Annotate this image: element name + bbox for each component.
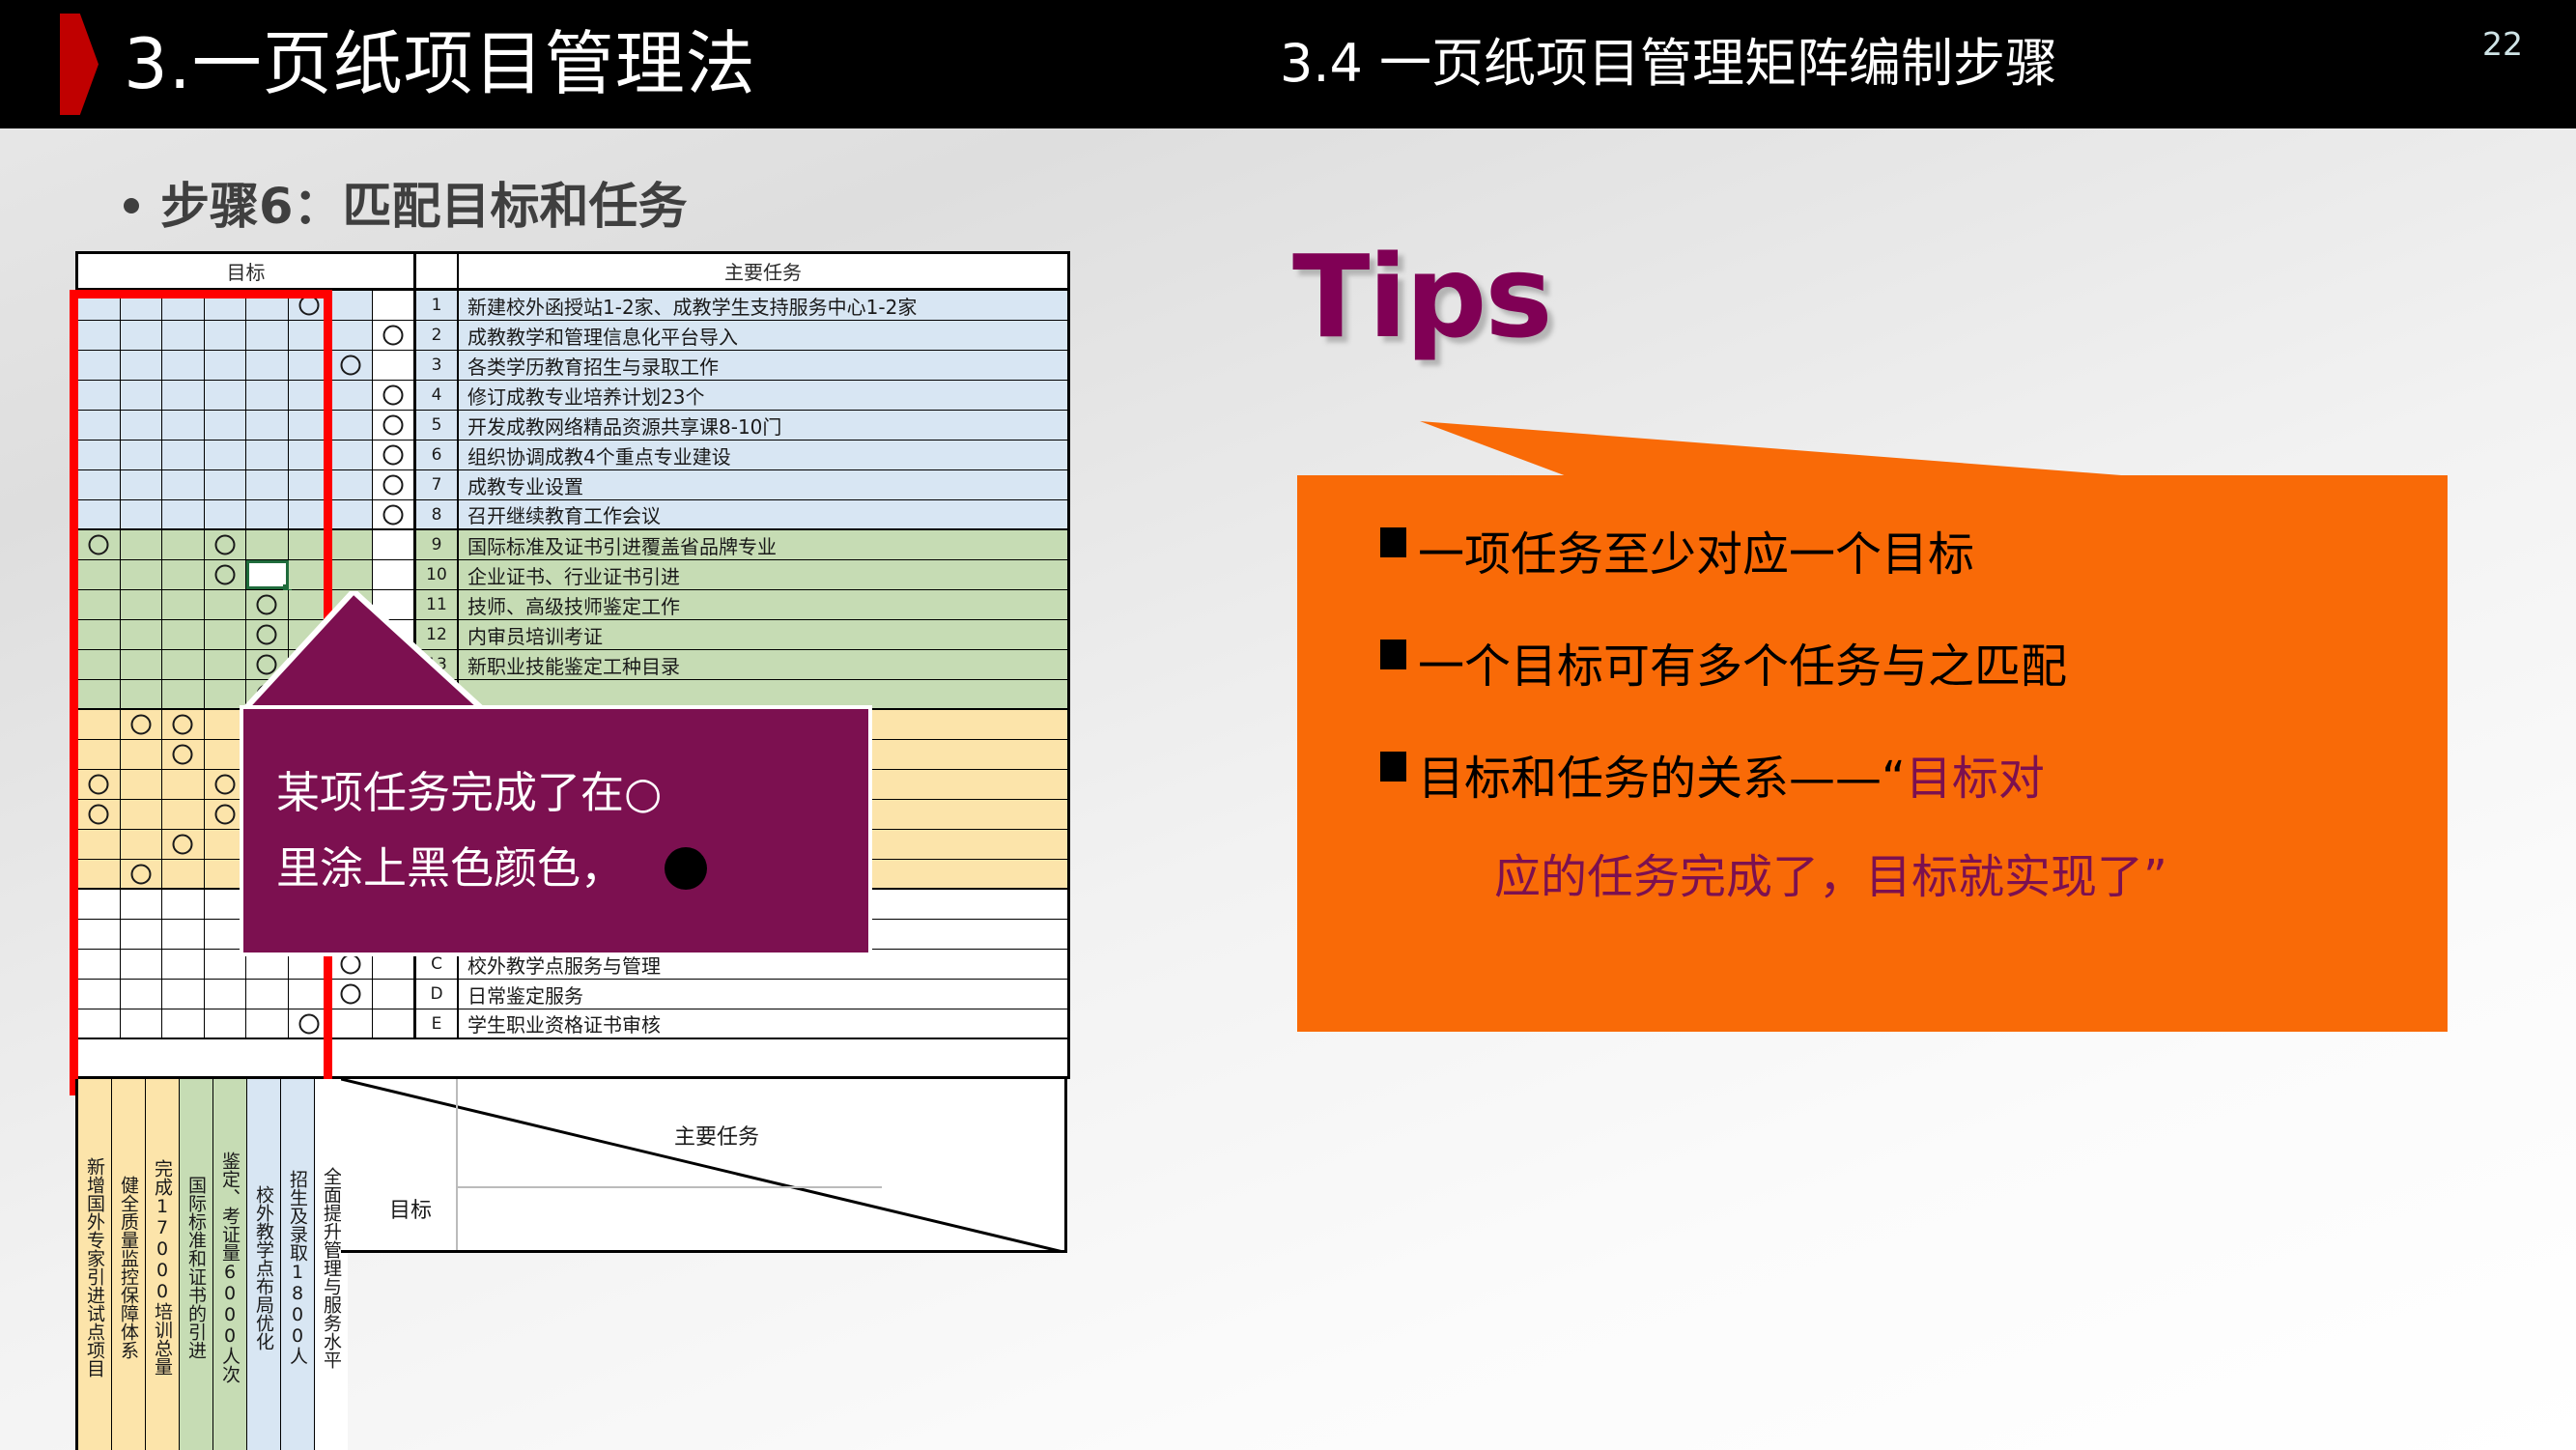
task-name-cell[interactable]: 各类学历教育招生与录取工作 xyxy=(459,351,1067,380)
matrix-cell[interactable] xyxy=(78,441,121,469)
matrix-cell[interactable] xyxy=(121,351,163,380)
row-number-cell: 4 xyxy=(416,381,459,410)
matrix-cell[interactable] xyxy=(289,680,331,708)
step-heading-label: 步骤6：匹配目标和任务 xyxy=(160,179,688,236)
matrix-cell[interactable] xyxy=(373,590,414,619)
table-row[interactable]: 10企业证书、行业证书引进 xyxy=(78,560,1067,590)
empty-circle-icon xyxy=(341,954,361,975)
matrix-cell[interactable] xyxy=(78,920,121,949)
matrix-cell[interactable] xyxy=(373,411,414,440)
row-number-cell: 14 xyxy=(416,680,459,708)
row-number-cell: 13 xyxy=(416,650,459,679)
matrix-cell[interactable] xyxy=(330,590,373,619)
matrix-cell[interactable] xyxy=(205,321,247,350)
matrix-cell[interactable] xyxy=(205,470,247,499)
matrix-cell[interactable] xyxy=(121,411,163,440)
matrix-cell[interactable] xyxy=(78,650,121,679)
table-row[interactable]: E学生职业资格证书审核 xyxy=(78,1009,1067,1039)
matrix-cell[interactable] xyxy=(162,950,205,979)
goal-cells xyxy=(78,441,416,469)
empty-circle-icon xyxy=(257,625,277,645)
matrix-cell[interactable] xyxy=(373,381,414,410)
matrix-cell[interactable] xyxy=(78,470,121,499)
matrix-cell[interactable] xyxy=(246,650,289,679)
matrix-cell[interactable] xyxy=(205,620,247,649)
table-row[interactable]: 11技师、高级技师鉴定工作 xyxy=(78,590,1067,620)
table-row[interactable]: 3各类学历教育招生与录取工作 xyxy=(78,351,1067,381)
row-number-cell: 9 xyxy=(416,530,459,559)
matrix-cell[interactable] xyxy=(162,470,205,499)
goal-cells xyxy=(78,680,416,708)
matrix-cell[interactable] xyxy=(78,1009,121,1038)
matrix-cell[interactable] xyxy=(246,980,289,1009)
matrix-cell[interactable] xyxy=(162,860,205,888)
matrix-cell[interactable] xyxy=(162,381,205,410)
matrix-cell[interactable] xyxy=(289,411,331,440)
matrix-cell[interactable] xyxy=(78,860,121,888)
empty-circle-icon xyxy=(382,415,403,436)
matrix-cell[interactable] xyxy=(162,680,205,708)
matrix-cell[interactable] xyxy=(205,1009,247,1038)
row-number-cell: 2 xyxy=(416,321,459,350)
selected-cell[interactable] xyxy=(246,560,289,589)
matrix-cell[interactable] xyxy=(78,560,121,589)
goal-cells xyxy=(78,620,416,649)
matrix-cell[interactable] xyxy=(78,500,121,528)
matrix-cell[interactable] xyxy=(373,680,414,708)
goal-cells xyxy=(78,411,416,440)
empty-circle-icon xyxy=(382,475,403,496)
empty-circle-icon xyxy=(214,805,235,825)
goal-column-label-5: 鉴定、考证量6000人次 xyxy=(213,1079,247,1450)
matrix-cell[interactable] xyxy=(121,530,163,559)
matrix-cell[interactable] xyxy=(205,560,247,589)
legend-task-label: 主要任务 xyxy=(674,1120,759,1151)
matrix-cell[interactable] xyxy=(330,441,373,469)
goal-cells xyxy=(78,500,416,528)
task-name-cell[interactable] xyxy=(459,680,1067,708)
callout-line-2: 里涂上黑色颜色， xyxy=(276,831,835,906)
task-name-cell[interactable]: 成教教学和管理信息化平台导入 xyxy=(459,321,1067,350)
empty-circle-icon xyxy=(382,326,403,346)
tips-bullet-3-highlight: 目标对 xyxy=(1906,740,2045,808)
matrix-cell[interactable] xyxy=(246,411,289,440)
empty-circle-icon xyxy=(89,775,109,795)
goal-cells xyxy=(78,470,416,499)
goal-cells xyxy=(78,1009,416,1038)
square-bullet-icon xyxy=(1380,527,1406,557)
goal-cells xyxy=(78,381,416,410)
task-column-header: 主要任务 xyxy=(459,254,1067,288)
matrix-cell[interactable] xyxy=(289,500,331,528)
empty-circle-icon xyxy=(173,715,193,735)
matrix-cell[interactable] xyxy=(330,500,373,528)
matrix-cell[interactable] xyxy=(121,680,163,708)
empty-circle-icon xyxy=(382,445,403,466)
table-row[interactable]: 12内审员培训考证 xyxy=(78,620,1067,650)
matrix-cell[interactable] xyxy=(289,650,331,679)
matrix-cell[interactable] xyxy=(121,770,163,799)
goal-column-group-header: 目标 xyxy=(78,254,416,288)
matrix-cell[interactable] xyxy=(246,530,289,559)
empty-circle-icon xyxy=(257,595,277,615)
tips-box-pointer-icon xyxy=(1420,404,2173,481)
matrix-cell[interactable] xyxy=(289,1009,331,1038)
goal-column-label-4: 国际标准和证书的引进 xyxy=(180,1079,213,1450)
matrix-cell[interactable] xyxy=(373,351,414,380)
empty-circle-icon xyxy=(341,984,361,1005)
empty-circle-icon xyxy=(214,565,235,585)
matrix-cell[interactable] xyxy=(121,1009,163,1038)
matrix-cell[interactable] xyxy=(373,291,414,320)
matrix-cell[interactable] xyxy=(205,411,247,440)
matrix-cell[interactable] xyxy=(162,1009,205,1038)
matrix-cell[interactable] xyxy=(162,770,205,799)
matrix-cell[interactable] xyxy=(205,530,247,559)
page-title: 3.一页纸项目管理法 xyxy=(124,6,756,122)
goal-cells xyxy=(78,530,416,559)
goal-column-label-7: 招生及录取1800人 xyxy=(281,1079,315,1450)
matrix-cell[interactable] xyxy=(162,830,205,859)
goal-cells xyxy=(78,351,416,380)
matrix-cell[interactable] xyxy=(330,680,373,708)
empty-circle-icon xyxy=(173,835,193,855)
matrix-cell[interactable] xyxy=(330,560,373,589)
empty-circle-icon xyxy=(298,296,319,316)
empty-circle-icon xyxy=(173,745,193,765)
matrix-cell[interactable] xyxy=(162,740,205,769)
matrix-cell[interactable] xyxy=(289,291,331,320)
matrix-cell[interactable] xyxy=(121,830,163,859)
tips-bullet-3-line2: 应的任务完成了，目标就实现了” xyxy=(1494,839,2167,906)
matrix-cell[interactable] xyxy=(78,411,121,440)
matrix-legend-area: 新增国外专家引进试点项目健全质量监控保障体系完成17000培训总量国际标准和证书… xyxy=(75,1079,1070,1253)
matrix-cell[interactable] xyxy=(205,650,247,679)
matrix-cell[interactable] xyxy=(246,291,289,320)
task-name-cell[interactable]: 开发成教网络精品资源共享课8-10门 xyxy=(459,411,1067,440)
matrix-cell[interactable] xyxy=(121,920,163,949)
row-number-cell: E xyxy=(416,1009,459,1038)
goal-column-label-1: 新增国外专家引进试点项目 xyxy=(78,1079,112,1450)
matrix-cell[interactable] xyxy=(121,590,163,619)
matrix-cell[interactable] xyxy=(373,500,414,528)
empty-circle-icon xyxy=(130,864,151,884)
matrix-cell[interactable] xyxy=(205,381,247,410)
legend-diagonal-divider-icon xyxy=(341,1079,1067,1253)
goal-column-label-2: 健全质量监控保障体系 xyxy=(112,1079,146,1450)
callout-line-2-text: 里涂上黑色颜色， xyxy=(276,831,624,906)
matrix-cell[interactable] xyxy=(78,770,121,799)
tips-bullet-1: 一项任务至少对应一个目标 xyxy=(1380,516,1974,583)
page-number: 22 xyxy=(2482,25,2523,64)
legend-goal-label: 目标 xyxy=(389,1193,432,1224)
matrix-cell[interactable] xyxy=(78,950,121,979)
matrix-cell[interactable] xyxy=(246,381,289,410)
instruction-callout: 某项任务完成了在○ 里涂上黑色颜色， xyxy=(240,705,872,956)
matrix-cell[interactable] xyxy=(330,1009,373,1038)
matrix-cell[interactable] xyxy=(246,590,289,619)
matrix-cell[interactable] xyxy=(162,620,205,649)
matrix-cell[interactable] xyxy=(162,650,205,679)
matrix-cell[interactable] xyxy=(121,620,163,649)
matrix-cell[interactable] xyxy=(78,321,121,350)
tips-bullet-1-label: 一项任务至少对应一个目标 xyxy=(1418,516,1974,583)
matrix-cell[interactable] xyxy=(330,291,373,320)
matrix-cell[interactable] xyxy=(162,351,205,380)
matrix-cell[interactable] xyxy=(121,950,163,979)
matrix-cell[interactable] xyxy=(121,890,163,919)
matrix-cell[interactable] xyxy=(121,291,163,320)
row-number-cell: 7 xyxy=(416,470,459,499)
table-row[interactable]: 1新建校外函授站1-2家、成教学生支持服务中心1-2家 xyxy=(78,291,1067,321)
table-row[interactable]: 5开发成教网络精品资源共享课8-10门 xyxy=(78,411,1067,441)
goal-cells xyxy=(78,650,416,679)
matrix-cell[interactable] xyxy=(121,441,163,469)
legend-corner-cell: 主要任务 目标 xyxy=(341,1079,1067,1253)
row-number-cell: 5 xyxy=(416,411,459,440)
matrix-cell[interactable] xyxy=(121,381,163,410)
table-row[interactable]: 6组织协调成教4个重点专业建设 xyxy=(78,441,1067,470)
matrix-cell[interactable] xyxy=(289,351,331,380)
matrix-cell[interactable] xyxy=(162,710,205,739)
task-name-cell[interactable]: 修订成教专业培养计划23个 xyxy=(459,381,1067,410)
matrix-cell[interactable] xyxy=(289,441,331,469)
tips-bullet-3-prefix: 目标和任务的关系——“ xyxy=(1418,740,1906,808)
matrix-cell[interactable] xyxy=(121,650,163,679)
empty-circle-icon xyxy=(89,805,109,825)
table-row[interactable]: 9国际标准及证书引进覆盖省品牌专业 xyxy=(78,530,1067,560)
matrix-cell[interactable] xyxy=(78,530,121,559)
matrix-cell[interactable] xyxy=(162,890,205,919)
goal-cells xyxy=(78,590,416,619)
row-number-cell: 6 xyxy=(416,441,459,469)
empty-circle-icon xyxy=(257,655,277,675)
matrix-cell[interactable] xyxy=(121,740,163,769)
goal-cells xyxy=(78,291,416,320)
matrix-cell[interactable] xyxy=(289,470,331,499)
row-number-cell: 11 xyxy=(416,590,459,619)
square-bullet-icon xyxy=(1380,752,1406,782)
empty-circle-icon xyxy=(130,715,151,735)
matrix-cell[interactable] xyxy=(121,321,163,350)
matrix-cell[interactable] xyxy=(162,530,205,559)
row-number-cell: 12 xyxy=(416,620,459,649)
matrix-cell[interactable] xyxy=(162,500,205,528)
section-subtitle: 3.4 一页纸项目管理矩阵编制步骤 xyxy=(1280,14,2057,113)
empty-circle-icon xyxy=(382,385,403,406)
matrix-cell[interactable] xyxy=(246,441,289,469)
slide-header-bar: 3.一页纸项目管理法 3.4 一页纸项目管理矩阵编制步骤 22 xyxy=(0,0,2576,128)
task-name-cell[interactable]: 企业证书、行业证书引进 xyxy=(459,560,1067,589)
goal-cells xyxy=(78,980,416,1009)
matrix-cell[interactable] xyxy=(78,740,121,769)
matrix-cell[interactable] xyxy=(205,500,247,528)
matrix-cell[interactable] xyxy=(246,500,289,528)
matrix-cell[interactable] xyxy=(246,620,289,649)
callout-line-1: 某项任务完成了在○ xyxy=(276,755,835,831)
matrix-cell[interactable] xyxy=(162,411,205,440)
matrix-cell[interactable] xyxy=(205,980,247,1009)
matrix-cell[interactable] xyxy=(78,620,121,649)
tips-bullet-2: 一个目标可有多个任务与之匹配 xyxy=(1380,628,2067,696)
row-number-cell: 1 xyxy=(416,291,459,320)
header-arrow-marker-icon xyxy=(60,14,99,115)
matrix-cell[interactable] xyxy=(330,530,373,559)
matrix-cell[interactable] xyxy=(162,800,205,829)
tips-box: 一项任务至少对应一个目标 一个目标可有多个任务与之匹配 目标和任务的关系——“目… xyxy=(1297,475,2448,1032)
matrix-cell[interactable] xyxy=(205,291,247,320)
empty-circle-icon xyxy=(214,775,235,795)
matrix-cell[interactable] xyxy=(162,291,205,320)
matrix-cell[interactable] xyxy=(289,620,331,649)
matrix-cell[interactable] xyxy=(78,830,121,859)
matrix-cell[interactable] xyxy=(246,680,289,708)
task-name-cell[interactable]: 新建校外函授站1-2家、成教学生支持服务中心1-2家 xyxy=(459,291,1067,320)
row-number-header xyxy=(416,254,459,288)
matrix-cell[interactable] xyxy=(289,530,331,559)
task-name-cell[interactable]: 召开继续教育工作会议 xyxy=(459,500,1067,528)
table-row[interactable]: 8召开继续教育工作会议 xyxy=(78,500,1067,530)
task-name-cell[interactable]: 学生职业资格证书审核 xyxy=(459,1009,1067,1038)
goal-column-label-6: 校外教学点布局优化 xyxy=(247,1079,281,1450)
matrix-cell[interactable] xyxy=(330,650,373,679)
row-number-cell: 10 xyxy=(416,560,459,589)
matrix-cell[interactable] xyxy=(246,1009,289,1038)
square-bullet-icon xyxy=(1380,640,1406,669)
step-heading: 步骤6：匹配目标和任务 xyxy=(124,166,688,238)
matrix-cell[interactable] xyxy=(78,890,121,919)
matrix-cell[interactable] xyxy=(78,351,121,380)
matrix-cell[interactable] xyxy=(162,321,205,350)
matrix-cell[interactable] xyxy=(373,560,414,589)
matrix-cell[interactable] xyxy=(330,411,373,440)
task-name-cell[interactable]: 国际标准及证书引进覆盖省品牌专业 xyxy=(459,530,1067,559)
slide-canvas: 3.一页纸项目管理法 3.4 一页纸项目管理矩阵编制步骤 22 步骤6：匹配目标… xyxy=(0,0,2576,1450)
matrix-cell[interactable] xyxy=(373,321,414,350)
matrix-cell[interactable] xyxy=(373,530,414,559)
tips-bullet-3: 目标和任务的关系——“目标对 xyxy=(1380,740,2045,808)
matrix-cell[interactable] xyxy=(121,980,163,1009)
table-row[interactable]: 7成教专业设置 xyxy=(78,470,1067,500)
matrix-cell[interactable] xyxy=(289,321,331,350)
bullet-dot-icon xyxy=(124,198,139,213)
matrix-cell[interactable] xyxy=(121,800,163,829)
matrix-cell[interactable] xyxy=(121,500,163,528)
task-name-cell[interactable]: 技师、高级技师鉴定工作 xyxy=(459,590,1067,619)
matrix-cell[interactable] xyxy=(289,381,331,410)
matrix-cell[interactable] xyxy=(330,321,373,350)
task-name-cell[interactable]: 日常鉴定服务 xyxy=(459,980,1067,1009)
matrix-cell[interactable] xyxy=(121,560,163,589)
tips-title: Tips xyxy=(1292,230,1551,363)
table-row[interactable]: 2成教教学和管理信息化平台导入 xyxy=(78,321,1067,351)
matrix-cell[interactable] xyxy=(330,351,373,380)
matrix-cell[interactable] xyxy=(78,980,121,1009)
matrix-cell[interactable] xyxy=(162,441,205,469)
empty-circle-icon xyxy=(298,1013,319,1034)
row-number-cell: 8 xyxy=(416,500,459,528)
matrix-cell[interactable] xyxy=(373,470,414,499)
table-row[interactable]: D日常鉴定服务 xyxy=(78,980,1067,1009)
empty-circle-icon xyxy=(89,535,109,555)
tips-bullet-2-label: 一个目标可有多个任务与之匹配 xyxy=(1418,628,2067,696)
table-row[interactable]: 4修订成教专业培养计划23个 xyxy=(78,381,1067,411)
matrix-cell[interactable] xyxy=(289,560,331,589)
goal-cells xyxy=(78,560,416,589)
matrix-cell[interactable] xyxy=(78,381,121,410)
matrix-cell[interactable] xyxy=(78,680,121,708)
empty-circle-icon xyxy=(257,684,277,704)
matrix-cell[interactable] xyxy=(330,620,373,649)
matrix-cell[interactable] xyxy=(246,351,289,380)
task-name-cell[interactable]: 组织协调成教4个重点专业建设 xyxy=(459,441,1067,469)
matrix-cell[interactable] xyxy=(205,351,247,380)
matrix-cell[interactable] xyxy=(330,470,373,499)
table-header-row: 目标 主要任务 xyxy=(78,254,1067,291)
matrix-cell[interactable] xyxy=(121,860,163,888)
matrix-cell[interactable] xyxy=(373,650,414,679)
matrix-cell[interactable] xyxy=(162,980,205,1009)
matrix-cell[interactable] xyxy=(246,470,289,499)
goal-column-label-3: 完成17000培训总量 xyxy=(146,1079,180,1450)
row-number-cell: D xyxy=(416,980,459,1009)
task-name-cell[interactable]: 成教专业设置 xyxy=(459,470,1067,499)
goal-vertical-labels: 新增国外专家引进试点项目健全质量监控保障体系完成17000培训总量国际标准和证书… xyxy=(75,1079,338,1450)
matrix-cell[interactable] xyxy=(78,291,121,320)
empty-circle-icon xyxy=(341,355,361,376)
row-number-cell: 3 xyxy=(416,351,459,380)
matrix-cell[interactable] xyxy=(205,590,247,619)
matrix-cell[interactable] xyxy=(78,590,121,619)
empty-circle-icon xyxy=(382,504,403,525)
matrix-cell[interactable] xyxy=(289,980,331,1009)
filled-circle-icon xyxy=(665,847,707,890)
matrix-cell[interactable] xyxy=(205,680,247,708)
matrix-cell[interactable] xyxy=(330,980,373,1009)
table-row[interactable]: 13新职业技能鉴定工种目录 xyxy=(78,650,1067,680)
matrix-cell[interactable] xyxy=(205,441,247,469)
matrix-cell[interactable] xyxy=(78,710,121,739)
matrix-cell[interactable] xyxy=(373,620,414,649)
empty-circle-icon xyxy=(214,535,235,555)
goal-cells xyxy=(78,321,416,350)
matrix-cell[interactable] xyxy=(162,920,205,949)
matrix-cell[interactable] xyxy=(78,800,121,829)
matrix-cell[interactable] xyxy=(330,381,373,410)
matrix-cell[interactable] xyxy=(121,710,163,739)
matrix-cell[interactable] xyxy=(289,590,331,619)
matrix-cell[interactable] xyxy=(373,980,414,1009)
matrix-cell[interactable] xyxy=(373,441,414,469)
task-name-cell[interactable]: 内审员培训考证 xyxy=(459,620,1067,649)
task-name-cell[interactable]: 新职业技能鉴定工种目录 xyxy=(459,650,1067,679)
matrix-cell[interactable] xyxy=(162,590,205,619)
matrix-cell[interactable] xyxy=(246,321,289,350)
matrix-cell[interactable] xyxy=(162,560,205,589)
matrix-cell[interactable] xyxy=(121,470,163,499)
matrix-cell[interactable] xyxy=(373,1009,414,1038)
